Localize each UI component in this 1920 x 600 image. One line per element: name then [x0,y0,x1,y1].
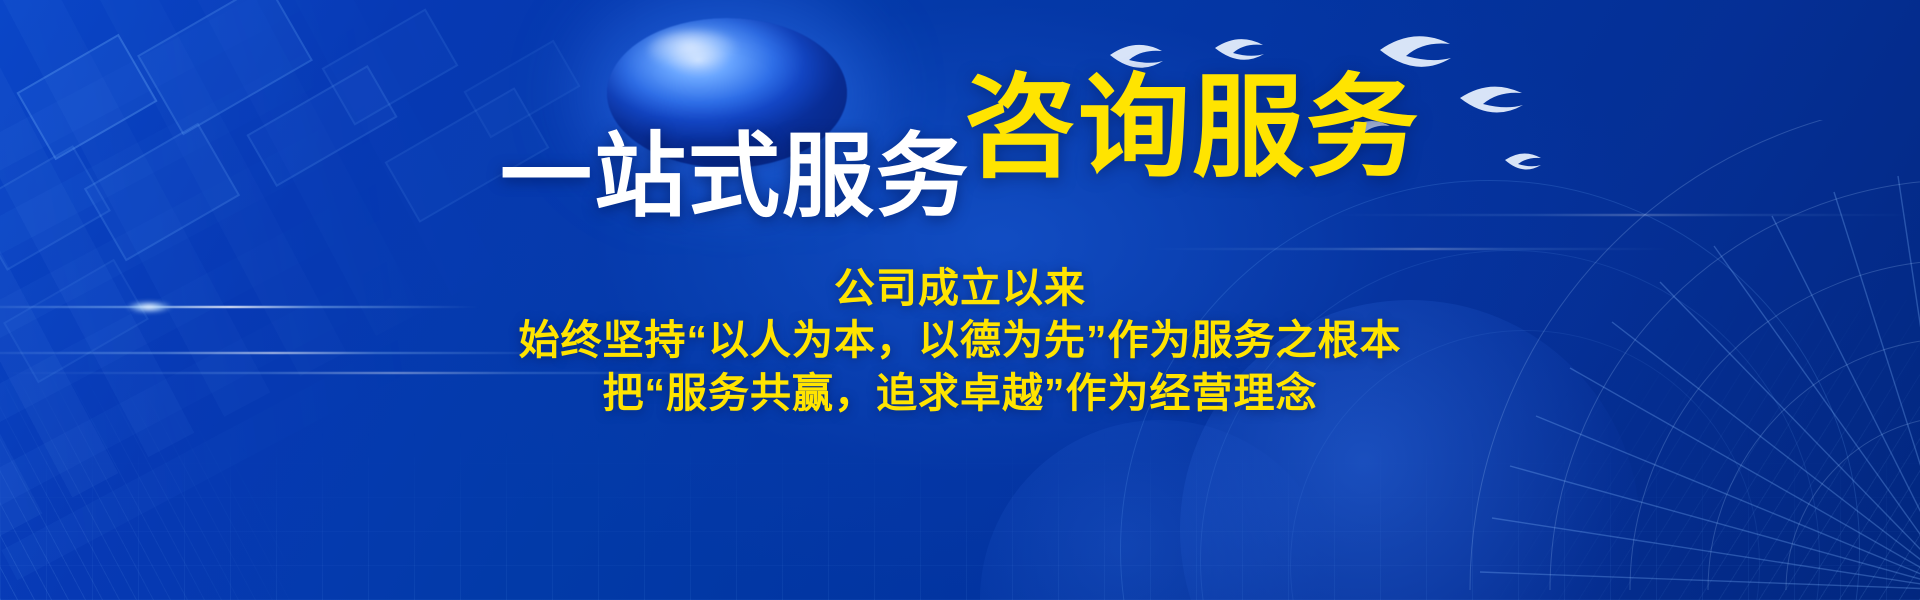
glow-circle-icon [980,420,1340,600]
subtitle-line-2: 始终坚持“以人为本，以德为先”作为服务之根本 [0,314,1920,366]
sphere-highlight-icon [648,30,740,70]
subtitle-line-3: 把“服务共赢，追求卓越”作为经营理念 [0,367,1920,419]
banner-headline: 一站式服务咨询服务 [0,72,1920,184]
headline-accent-text: 咨询服务 [964,65,1420,190]
light-streak-icon [1150,248,1670,250]
promo-banner: 一站式服务咨询服务 公司成立以来 始终坚持“以人为本，以德为先”作为服务之根本 … [0,0,1920,600]
banner-subtitle: 公司成立以来 始终坚持“以人为本，以德为先”作为服务之根本 把“服务共赢，追求卓… [0,262,1920,419]
perspective-grid-icon [0,430,1920,600]
subtitle-line-1: 公司成立以来 [0,262,1920,314]
light-streak-icon [1330,214,1920,216]
headline-primary-text: 一站式服务 [500,126,970,228]
